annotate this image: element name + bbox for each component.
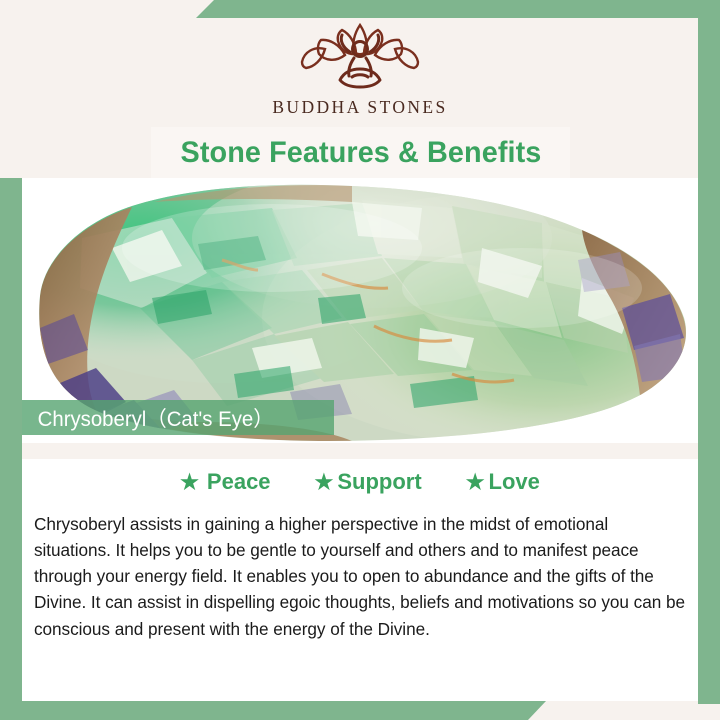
lotus-meditation-icon — [284, 22, 436, 92]
keyword-label: Peace — [207, 469, 271, 495]
keyword-row: ★ Peace ★ Support ★ Love — [22, 459, 698, 495]
keyword-label: Support — [337, 469, 421, 495]
star-icon: ★ — [315, 472, 334, 493]
keyword-support: ★ Support — [315, 469, 422, 495]
page-title: Stone Features & Benefits — [180, 136, 541, 170]
brand-name: BUDDHA STONES — [272, 97, 447, 118]
stone-name-label: Chrysoberyl（Cat's Eye） — [22, 400, 334, 435]
keyword-peace: ★ Peace — [180, 469, 270, 495]
frame-bottom-band — [0, 701, 546, 720]
divider-strip — [22, 443, 698, 459]
title-banner: Stone Features & Benefits — [151, 127, 570, 178]
star-icon: ★ — [466, 472, 485, 493]
star-icon: ★ — [180, 472, 199, 493]
keyword-label: Love — [489, 469, 540, 495]
stone-name-text: Chrysoberyl（Cat's Eye） — [38, 403, 274, 433]
content-panel: ★ Peace ★ Support ★ Love Chrysoberyl ass… — [22, 459, 698, 701]
frame-left-border — [0, 178, 22, 720]
stone-description: Chrysoberyl assists in gaining a higher … — [34, 511, 686, 642]
frame-top-right-band — [196, 0, 720, 18]
stone-info-card: BUDDHA STONES Stone Features & Benefits — [0, 0, 720, 720]
keyword-love: ★ Love — [466, 469, 540, 495]
stone-photo: Chrysoberyl（Cat's Eye） — [22, 178, 698, 443]
brand-logo: BUDDHA STONES — [0, 22, 720, 118]
